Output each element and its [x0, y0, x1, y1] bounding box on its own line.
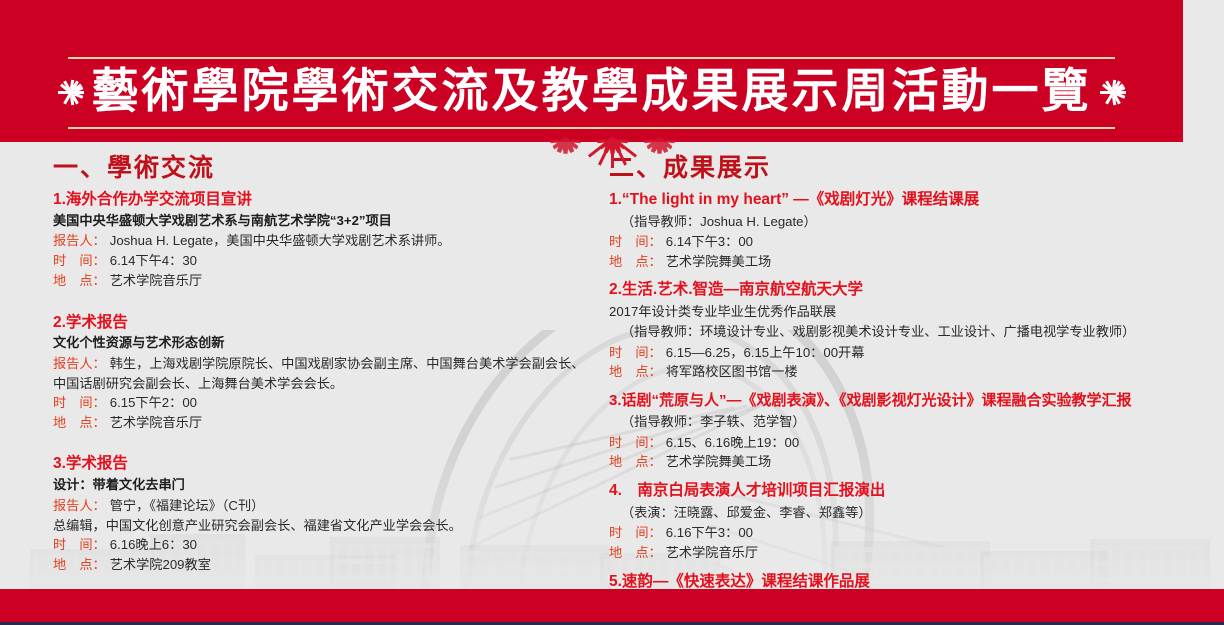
- place-label: 地 点：: [609, 452, 662, 472]
- title-banner: 藝術學院學術交流及教學成果展示周活動一覽: [0, 0, 1183, 142]
- entry-speaker: 报告人： 韩生，上海戏剧学院原院长、中国戏剧家协会副主席、中国舞台美术学会副会长…: [53, 354, 600, 374]
- speaker-value-continued: 总编辑，中国文化创意产业研究会副会长、福建省文化产业学会会长。: [53, 516, 600, 535]
- left-column: 一、學術交流 1.海外合作办学交流项目宣讲 美国中央华盛顿大学戏剧艺术系与南航艺…: [0, 155, 600, 575]
- entry-place: 地 点： 艺术学院音乐厅: [53, 413, 600, 433]
- left-entry-1: 1.海外合作办学交流项目宣讲 美国中央华盛顿大学戏剧艺术系与南航艺术学院“3+2…: [53, 190, 600, 291]
- place-value: 艺术学院舞美工场: [662, 452, 772, 472]
- entry-note: （表演：汪晓露、邱爱金、李睿、郑鑫等）: [609, 503, 1214, 522]
- place-label: 地 点：: [53, 413, 106, 433]
- time-value: 6.15—6.25，6.15上午10：00开幕: [662, 343, 865, 363]
- place-label: 地 点：: [609, 543, 662, 563]
- entry-subtitle: 文化个性资源与艺术形态创新: [53, 334, 600, 352]
- entry-time: 时 间： 6.14下午3：00: [609, 232, 1214, 252]
- banner-title-row: 藝術學院學術交流及教學成果展示周活動一覽: [0, 57, 1183, 127]
- poster-root: 藝術學院學術交流及教學成果展示周活動一覽 一、學術交流 1.海外合作办学交流项目…: [0, 0, 1224, 625]
- entry-note: （指导教师：Joshua H. Legate）: [609, 212, 1214, 231]
- snowflake-icon: [1098, 77, 1128, 107]
- entry-title: 3.话剧“荒原与人”—《戏剧表演》、《戏剧影视灯光设计》课程融合实验教学汇报: [609, 391, 1214, 411]
- place-value: 艺术学院音乐厅: [106, 271, 202, 291]
- speaker-value: Joshua H. Legate，美国中央华盛顿大学戏剧艺术系讲师。: [106, 231, 451, 251]
- entry-title: 2.学术报告: [53, 313, 600, 334]
- entry-title: 1.海外合作办学交流项目宣讲: [53, 190, 600, 211]
- entry-place: 地 点： 艺术学院舞美工场: [609, 252, 1214, 272]
- entry-speaker: 报告人： Joshua H. Legate，美国中央华盛顿大学戏剧艺术系讲师。: [53, 231, 600, 251]
- time-label: 时 间：: [609, 343, 662, 363]
- speaker-label: 报告人：: [53, 231, 106, 251]
- place-value: 艺术学院209教室: [106, 555, 211, 575]
- entry-place: 地 点： 艺术学院舞美工场: [609, 452, 1214, 472]
- left-entry-2: 2.学术报告 文化个性资源与艺术形态创新 报告人： 韩生，上海戏剧学院原院长、中…: [53, 313, 600, 433]
- entry-time: 时 间： 6.15、6.16晚上19：00: [609, 433, 1214, 453]
- entry-time: 时 间： 6.15—6.25，6.15上午10：00开幕: [609, 343, 1214, 363]
- entry-subtitle: 美国中央华盛顿大学戏剧艺术系与南航艺术学院“3+2”项目: [53, 212, 600, 230]
- left-entry-3: 3.学术报告 设计：带着文化去串门 报告人： 管宁，《福建论坛》（C刊） 总编辑…: [53, 454, 600, 574]
- time-label: 时 间：: [609, 232, 662, 252]
- entry-subtitle: 2017年设计类专业毕业生优秀作品联展: [609, 302, 1214, 321]
- banner-drop-ornament: [0, 138, 1224, 178]
- entry-note: （指导教师：环境设计专业、戏剧影视美术设计专业、工业设计、广播电视学专业教师）: [609, 322, 1214, 341]
- place-label: 地 点：: [53, 555, 106, 575]
- place-label: 地 点：: [609, 252, 662, 272]
- entry-place: 地 点： 艺术学院音乐厅: [53, 271, 600, 291]
- right-column: 二、成果展示 1.“The light in my heart” —《戏剧灯光》…: [600, 155, 1224, 575]
- entry-title: 1.“The light in my heart” —《戏剧灯光》课程结课展: [609, 190, 1214, 211]
- snowflake-icon: [56, 77, 86, 107]
- entry-subtitle: 设计：带着文化去串门: [53, 476, 600, 494]
- speaker-label: 报告人：: [53, 496, 106, 516]
- entry-place: 地 点： 艺术学院209教室: [53, 555, 600, 575]
- time-value: 6.15下午2：00: [106, 393, 197, 413]
- time-value: 6.15、6.16晚上19：00: [662, 433, 799, 453]
- banner-rule-bottom: [68, 127, 1115, 129]
- entry-title: 3.学术报告: [53, 454, 600, 475]
- place-label: 地 点：: [53, 271, 106, 291]
- right-entry-2: 2.生活.艺术.智造—南京航空航天大学 2017年设计类专业毕业生优秀作品联展 …: [609, 280, 1214, 382]
- entry-time: 时 间： 6.15下午2：00: [53, 393, 600, 413]
- speaker-value-continued: 中国话剧研究会副会长、上海舞台美术学会会长。: [53, 374, 600, 393]
- entry-time: 时 间： 6.14下午4：30: [53, 251, 600, 271]
- right-entry-4: 4. 南京白局表演人才培训项目汇报演出 （表演：汪晓露、邱爱金、李睿、郑鑫等） …: [609, 481, 1214, 563]
- time-label: 时 间：: [53, 535, 106, 555]
- right-entry-3: 3.话剧“荒原与人”—《戏剧表演》、《戏剧影视灯光设计》课程融合实验教学汇报 （…: [609, 391, 1214, 472]
- time-value: 6.14下午3：00: [662, 232, 753, 252]
- speaker-label: 报告人：: [53, 354, 106, 374]
- entry-place: 地 点： 艺术学院音乐厅: [609, 543, 1214, 563]
- time-value: 6.16下午3：00: [662, 523, 753, 543]
- speaker-value: 韩生，上海戏剧学院原院长、中国戏剧家协会副主席、中国舞台美术学会副会长、: [106, 354, 585, 374]
- snowflake-icon: [586, 138, 638, 176]
- entry-time: 时 间： 6.16晚上6：30: [53, 535, 600, 555]
- place-value: 艺术学院舞美工场: [662, 252, 772, 272]
- entry-title: 4. 南京白局表演人才培训项目汇报演出: [609, 481, 1214, 502]
- snowflake-icon: [552, 138, 578, 160]
- place-value: 艺术学院音乐厅: [662, 543, 758, 563]
- snowflake-icon: [646, 138, 672, 160]
- time-value: 6.16晚上6：30: [106, 535, 197, 555]
- time-value: 6.14下午4：30: [106, 251, 197, 271]
- entry-time: 时 间： 6.16下午3：00: [609, 523, 1214, 543]
- place-value: 将军路校区图书馆一楼: [662, 362, 798, 382]
- footer-bar: [0, 589, 1224, 622]
- entry-speaker: 报告人： 管宁，《福建论坛》（C刊）: [53, 496, 600, 516]
- place-label: 地 点：: [609, 362, 662, 382]
- place-value: 艺术学院音乐厅: [106, 413, 202, 433]
- entry-note: （指导教师：李子轶、范学智）: [609, 412, 1214, 431]
- entry-title: 2.生活.艺术.智造—南京航空航天大学: [609, 280, 1214, 301]
- time-label: 时 间：: [609, 433, 662, 453]
- time-label: 时 间：: [53, 251, 106, 271]
- page-title: 藝術學院學術交流及教學成果展示周活動一覽: [92, 69, 1092, 116]
- speaker-value: 管宁，《福建论坛》（C刊）: [106, 496, 265, 516]
- entry-place: 地 点： 将军路校区图书馆一楼: [609, 362, 1214, 382]
- time-label: 时 间：: [609, 523, 662, 543]
- right-entry-1: 1.“The light in my heart” —《戏剧灯光》课程结课展 （…: [609, 190, 1214, 272]
- time-label: 时 间：: [53, 393, 106, 413]
- content-columns: 一、學術交流 1.海外合作办学交流项目宣讲 美国中央华盛顿大学戏剧艺术系与南航艺…: [0, 155, 1224, 575]
